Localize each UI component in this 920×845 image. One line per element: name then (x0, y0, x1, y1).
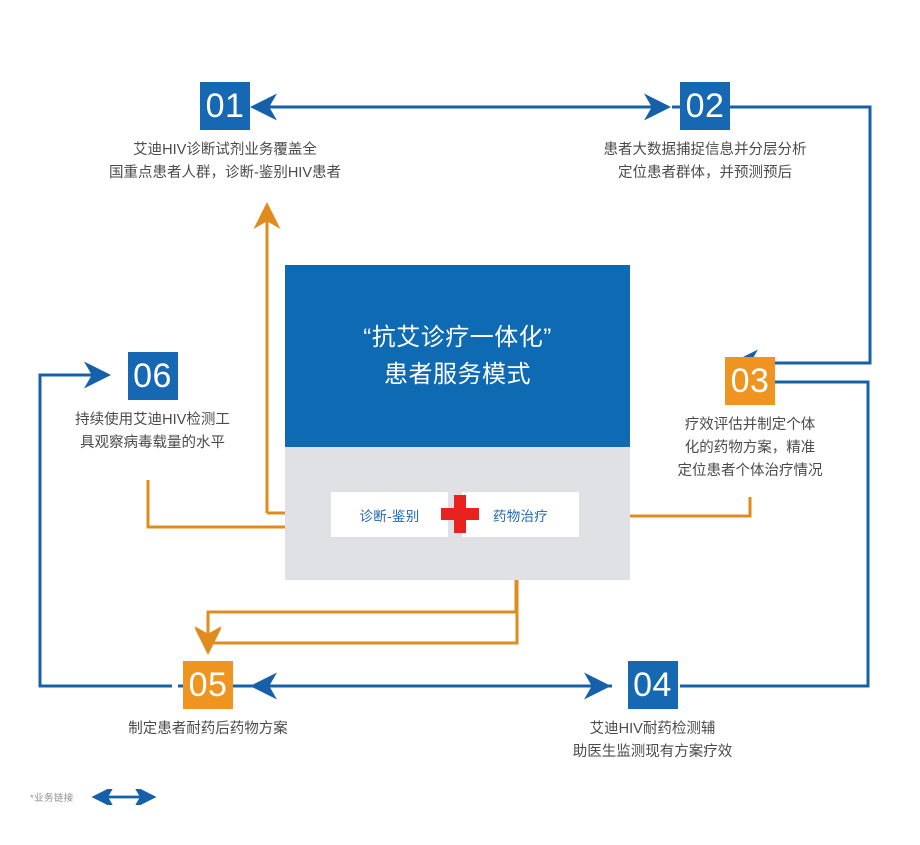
step-01[interactable]: 01 艾迪HIV诊断试剂业务覆盖全 国重点患者人群，诊断-鉴别HIV患者 (60, 82, 390, 185)
red-cross-icon (441, 495, 479, 533)
inner-box-diagnosis-label: 诊断-鉴别 (360, 505, 420, 525)
step-06-caption: 持续使用艾迪HIV检测工 具观察病毒载量的水平 (40, 409, 265, 455)
legend: *业务链接 (30, 789, 161, 805)
legend-label: *业务链接 (30, 790, 74, 804)
step-04[interactable]: 04 艾迪HIV耐药检测辅 助医生监测现有方案疗效 (545, 661, 760, 764)
step-05-badge: 05 (183, 661, 233, 709)
step-02-caption: 患者大数据捕捉信息并分层分析 定位患者群体，并预测预后 (540, 139, 870, 185)
step-03-badge: 03 (725, 357, 775, 405)
flow-center-down-to-05 (208, 612, 516, 652)
red-cross-vertical-bar (454, 495, 466, 533)
double-arrow-icon (86, 789, 161, 805)
step-02-badge: 02 (680, 82, 730, 130)
step-06-badge: 06 (128, 352, 178, 400)
step-01-badge: 01 (200, 82, 250, 130)
step-05-caption: 制定患者耐药后药物方案 (93, 718, 323, 741)
step-01-caption: 艾迪HIV诊断试剂业务覆盖全 国重点患者人群，诊断-鉴别HIV患者 (60, 139, 390, 185)
inner-box-medication[interactable]: 药物治疗 (462, 492, 579, 537)
flow-center-to-05 (208, 570, 517, 650)
center-title: “抗艾诊疗一体化” 患者服务模式 (285, 265, 630, 447)
step-04-badge: 04 (628, 661, 678, 709)
inner-box-medication-label: 药物治疗 (493, 505, 548, 525)
inner-box-diagnosis[interactable]: 诊断-鉴别 (331, 492, 448, 537)
step-03[interactable]: 03 疗效评估并制定个体 化的药物方案，精准 定位患者个体治疗情况 (655, 357, 845, 483)
infographic-canvas: “抗艾诊疗一体化” 患者服务模式 诊断-鉴别 药物治疗 01 艾迪HIV诊断试剂… (0, 0, 920, 845)
step-05[interactable]: 05 制定患者耐药后药物方案 (93, 661, 323, 741)
step-06[interactable]: 06 持续使用艾迪HIV检测工 具观察病毒载量的水平 (40, 352, 265, 455)
step-03-caption: 疗效评估并制定个体 化的药物方案，精准 定位患者个体治疗情况 (655, 414, 845, 483)
step-04-caption: 艾迪HIV耐药检测辅 助医生监测现有方案疗效 (545, 718, 760, 764)
step-02[interactable]: 02 患者大数据捕捉信息并分层分析 定位患者群体，并预测预后 (540, 82, 870, 185)
